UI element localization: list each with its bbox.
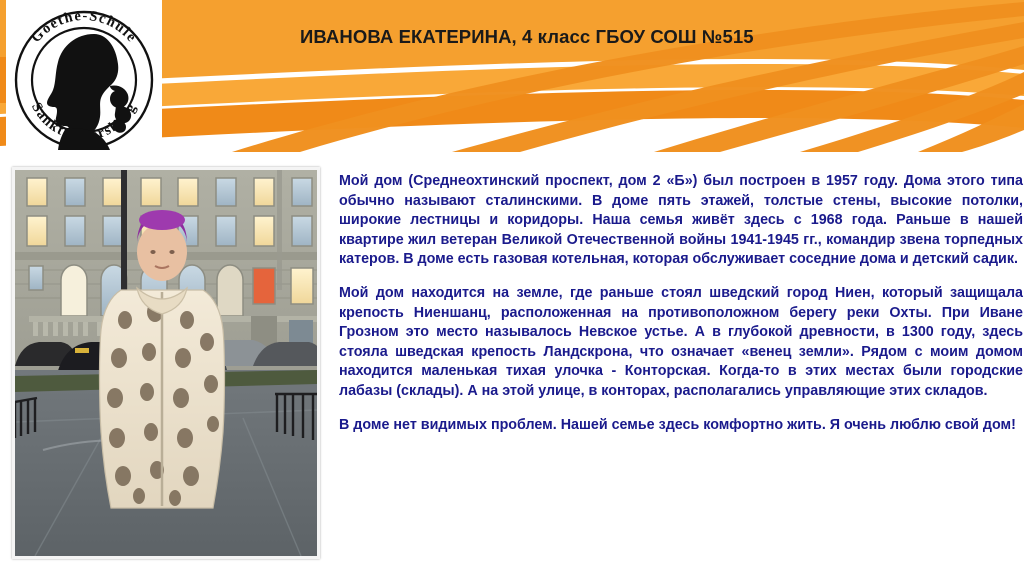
photo-frame	[12, 167, 320, 559]
paragraph-1: Мой дом (Среднеохтинский проспект, дом 2…	[339, 172, 1023, 270]
page-title: ИВАНОВА ЕКАТЕРИНА, 4 класс ГБОУ СОШ №515	[300, 26, 940, 48]
article-text: Мой дом (Среднеохтинский проспект, дом 2…	[339, 172, 1023, 435]
presentation-slide: ИВАНОВА ЕКАТЕРИНА, 4 класс ГБОУ СОШ №515…	[0, 0, 1024, 574]
paragraph-2: Мой дом находится на земле, где раньше с…	[339, 284, 1023, 402]
school-logo: Goethe-Schule Sankt-Petersburg	[6, 0, 162, 150]
student-photo	[15, 170, 317, 556]
face	[137, 223, 187, 281]
paragraph-3: В доме нет видимых проблем. Нашей семье …	[339, 416, 1023, 436]
